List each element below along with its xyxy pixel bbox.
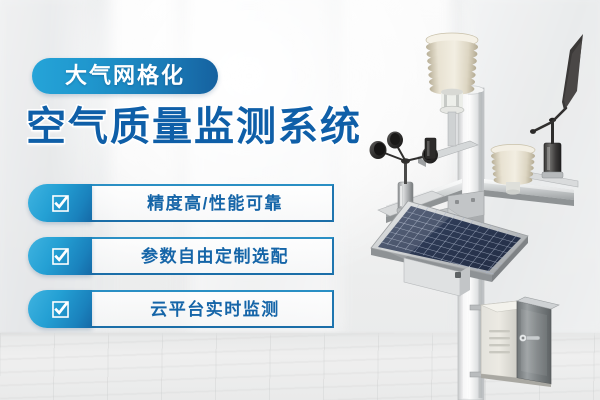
background-wall-right: [462, 0, 600, 338]
feature-box-1: 精度高/性能可靠: [86, 184, 334, 222]
feature-check-tab-1: [28, 184, 92, 222]
background-floor-grain: [0, 333, 600, 400]
category-badge-label: 大气网格化: [65, 65, 185, 87]
feature-label-1: 精度高/性能可靠: [147, 195, 283, 212]
category-badge: 大气网格化: [32, 58, 218, 94]
feature-item-3: 云平台实时监测: [28, 290, 334, 328]
checkbox-checked-icon: [51, 300, 70, 319]
feature-check-tab-3: [28, 290, 92, 328]
feature-box-2: 参数自由定制选配: [86, 237, 334, 275]
checkbox-checked-icon: [51, 194, 70, 213]
air-quality-monitoring-banner: 大气网格化 空气质量监测系统 精度高/性能可靠: [0, 0, 600, 400]
feature-item-2: 参数自由定制选配: [28, 237, 334, 275]
page-title: 空气质量监测系统: [26, 103, 362, 151]
feature-label-3: 云平台实时监测: [150, 301, 280, 318]
feature-item-1: 精度高/性能可靠: [28, 184, 334, 222]
feature-label-2: 参数自由定制选配: [141, 248, 289, 265]
feature-list: 精度高/性能可靠 参数自由定制选配 云平台实时监测: [28, 184, 334, 343]
feature-box-3: 云平台实时监测: [86, 290, 334, 328]
feature-check-tab-2: [28, 237, 92, 275]
checkbox-checked-icon: [51, 247, 70, 266]
